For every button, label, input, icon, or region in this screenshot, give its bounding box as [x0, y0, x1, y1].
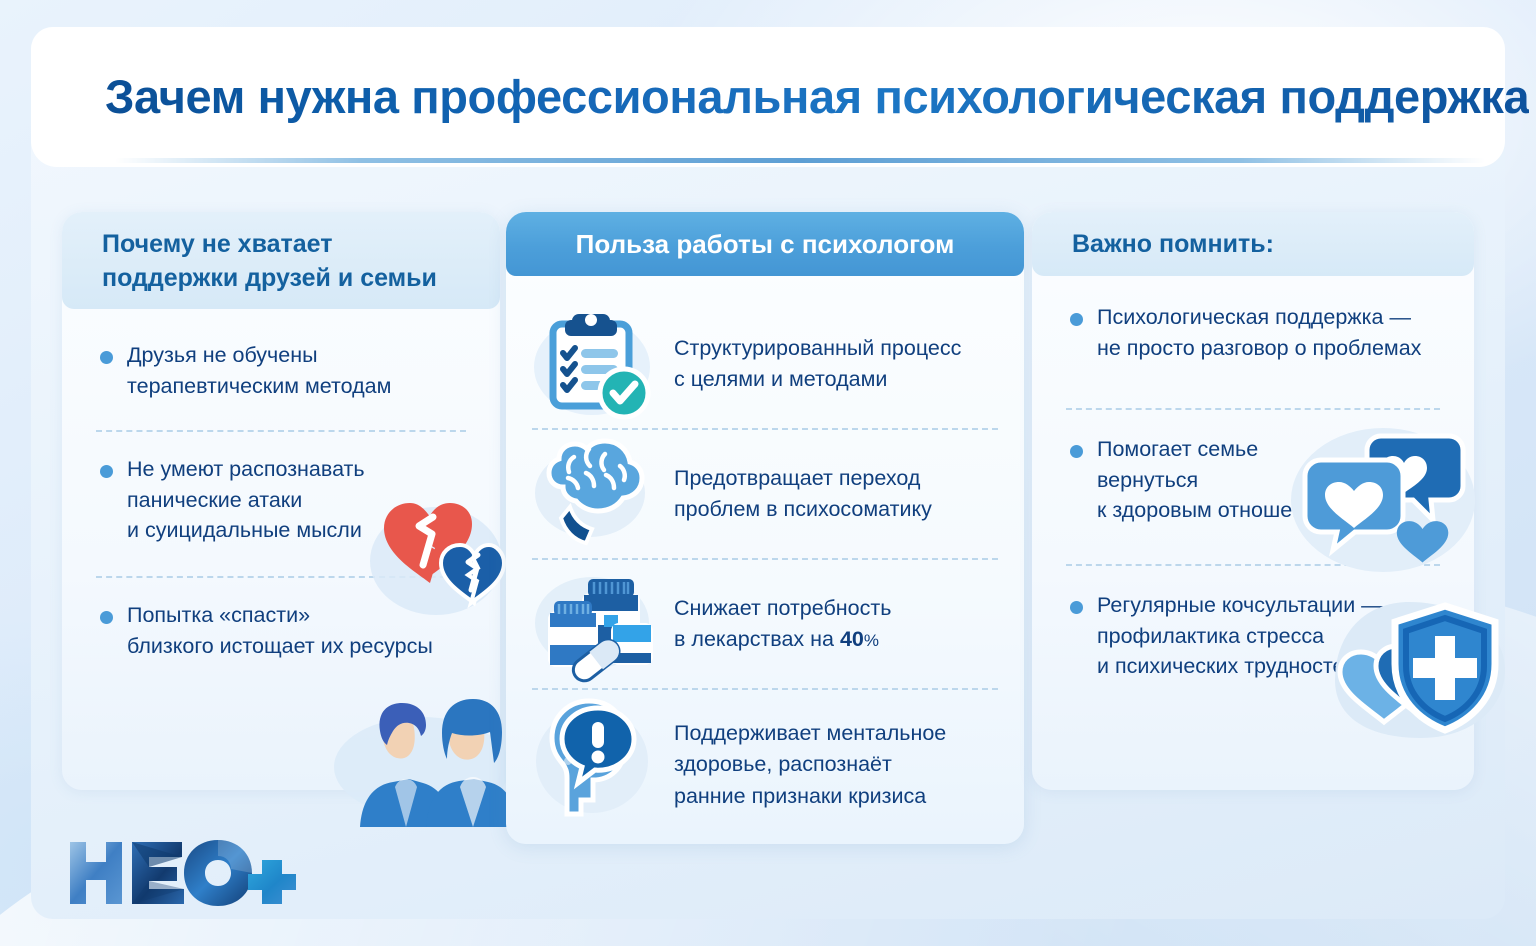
brain-icon — [532, 435, 658, 553]
page-title: Зачем нужна профессиональная психологиче… — [105, 69, 1529, 124]
list-item-label: Снижает потребность в лекарствах на 40% — [674, 593, 891, 655]
list-item: Психологическая поддержка — не просто ра… — [1032, 302, 1474, 386]
bullet-dot-icon — [100, 611, 113, 624]
list-item: Предотвращает переход проблем в психосом… — [506, 430, 1024, 558]
list-item-label: Друзья не обучены терапевтическим метода… — [127, 340, 391, 401]
list-item: Структурированный процесс с целями и мет… — [506, 300, 1024, 428]
row-divider — [1066, 564, 1440, 566]
middle-column-body: Структурированный процесс с целями и мет… — [506, 300, 1024, 840]
title-underline — [115, 158, 1485, 163]
bullet-dot-icon — [100, 351, 113, 364]
logo-letter-o — [184, 840, 252, 906]
pill-bottles-icon — [532, 565, 658, 683]
list-item-label: Регулярные кочсультации — профилактика с… — [1097, 590, 1383, 682]
right-column-header: Важно помнить: — [1032, 212, 1474, 276]
list-item-label: Попытка «спасти» близкого истощает их ре… — [127, 600, 433, 661]
list-item: Друзья не обучены терапевтическим метода… — [62, 340, 500, 416]
list-item-label: Психологическая поддержка — не просто ра… — [1097, 302, 1421, 363]
bullet-dot-icon — [1070, 601, 1083, 614]
row-divider — [96, 576, 466, 578]
list-item-label: Предотвращает переход проблем в психосом… — [674, 463, 932, 525]
logo-letter-e — [132, 842, 184, 904]
column-benefits: Польза работы с психологом — [506, 212, 1024, 844]
percent-unit: % — [864, 631, 879, 650]
percent-value: 40 — [840, 627, 864, 651]
list-item: Поддерживает ментальное здоровье, распоз… — [506, 690, 1024, 840]
list-item-label: Поддерживает ментальное здоровье, распоз… — [674, 718, 946, 812]
list-item-label: Не умеют распознавать панические атаки и… — [127, 454, 365, 546]
right-column-body: Психологическая поддержка — не просто ра… — [1032, 302, 1474, 702]
clipboard-checklist-icon — [532, 305, 658, 423]
head-alert-icon — [532, 695, 658, 835]
list-item-label: Помогает семье вернуться к здоровым отно… — [1097, 434, 1343, 526]
bullet-dot-icon — [1070, 313, 1083, 326]
left-column-header: Почему не хватает поддержки друзей и сем… — [62, 212, 500, 309]
middle-column-header: Польза работы с психологом — [506, 212, 1024, 276]
list-item: Снижает потребность в лекарствах на 40% — [506, 560, 1024, 688]
list-item: Попытка «спасти» близкого истощает их ре… — [62, 600, 500, 676]
bullet-dot-icon — [1070, 445, 1083, 458]
brand-logo — [66, 836, 296, 910]
list-item-label: Структурированный процесс с целями и мет… — [674, 333, 961, 395]
title-card: Зачем нужна профессиональная психологиче… — [31, 27, 1505, 167]
logo-letter-n — [70, 842, 122, 904]
bullet-dot-icon — [100, 465, 113, 478]
row-divider — [96, 430, 466, 432]
list-item: Помогает семье вернуться к здоровым отно… — [1032, 434, 1474, 546]
list-item: Регулярные кочсультации — профилактика с… — [1032, 590, 1474, 702]
column-important: Важно помнить: Психологическая поддержка… — [1032, 212, 1474, 790]
row-divider — [1066, 408, 1440, 410]
logo-plus-icon — [248, 860, 296, 904]
list-item: Не умеют распознавать панические атаки и… — [62, 454, 500, 562]
column-why-friends-family: Почему не хватает поддержки друзей и сем… — [62, 212, 500, 790]
left-column-body: Друзья не обучены терапевтическим метода… — [62, 340, 500, 676]
